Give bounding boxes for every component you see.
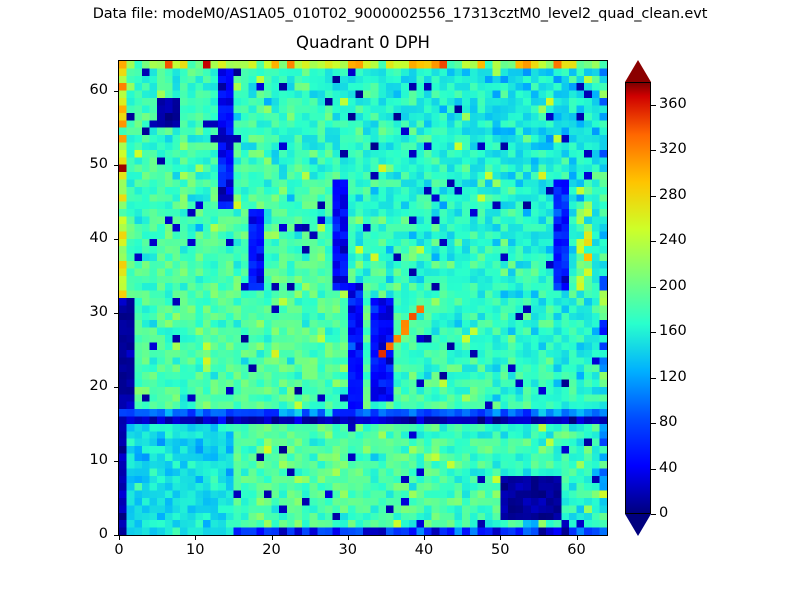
x-tick-mark: [195, 536, 196, 540]
colorbar-tick-mark: [651, 105, 656, 106]
x-tick-mark: [424, 536, 425, 540]
y-tick-label: 40: [72, 230, 108, 246]
figure-canvas: Data file: modeM0/AS1A05_010T02_90000025…: [0, 0, 800, 600]
colorbar-tick-label: 240: [659, 232, 687, 248]
y-tick-mark: [114, 91, 118, 92]
x-tick-mark: [272, 536, 273, 540]
heatmap-axes[interactable]: [118, 60, 608, 536]
colorbar-tick-mark: [651, 514, 656, 515]
x-tick-label: 40: [404, 542, 444, 558]
x-tick-label: 0: [99, 542, 139, 558]
x-tick-mark: [577, 536, 578, 540]
y-tick-mark: [114, 535, 118, 536]
colorbar-tick-label: 120: [659, 369, 687, 385]
colorbar-tick-label: 320: [659, 141, 687, 157]
colorbar-tick-mark: [651, 332, 656, 333]
y-tick-mark: [114, 461, 118, 462]
y-tick-label: 0: [72, 526, 108, 542]
y-tick-label: 60: [72, 82, 108, 98]
y-tick-label: 20: [72, 378, 108, 394]
x-tick-label: 50: [480, 542, 520, 558]
colorbar-tick-label: 280: [659, 187, 687, 203]
colorbar-tick-mark: [651, 287, 656, 288]
colorbar-extend-min-arrow-icon: [625, 514, 651, 536]
y-tick-mark: [114, 165, 118, 166]
colorbar-tick-label: 160: [659, 323, 687, 339]
colorbar-extend-max-arrow-icon: [625, 60, 651, 82]
colorbar-tick-mark: [651, 150, 656, 151]
x-tick-mark: [119, 536, 120, 540]
x-tick-mark: [500, 536, 501, 540]
colorbar-tick-mark: [651, 378, 656, 379]
plot-title: Quadrant 0 DPH: [118, 33, 608, 52]
x-tick-label: 20: [252, 542, 292, 558]
colorbar[interactable]: 04080120160200240280320360: [625, 60, 651, 536]
y-tick-mark: [114, 387, 118, 388]
colorbar-tick-mark: [651, 196, 656, 197]
colorbar-tick-label: 360: [659, 96, 687, 112]
y-tick-label: 10: [72, 452, 108, 468]
colorbar-tick-mark: [651, 469, 656, 470]
x-tick-label: 30: [328, 542, 368, 558]
heatmap-image[interactable]: [119, 61, 607, 535]
x-tick-label: 10: [175, 542, 215, 558]
colorbar-tick-label: 80: [659, 414, 677, 430]
colorbar-tick-label: 0: [659, 505, 668, 521]
colorbar-tick-label: 40: [659, 460, 677, 476]
x-tick-mark: [348, 536, 349, 540]
y-tick-label: 50: [72, 156, 108, 172]
y-tick-label: 30: [72, 304, 108, 320]
colorbar-gradient[interactable]: [625, 82, 651, 514]
colorbar-tick-mark: [651, 423, 656, 424]
colorbar-tick-mark: [651, 241, 656, 242]
x-tick-label: 60: [557, 542, 597, 558]
colorbar-tick-label: 200: [659, 278, 687, 294]
y-tick-mark: [114, 313, 118, 314]
y-tick-mark: [114, 239, 118, 240]
data-file-suptitle: Data file: modeM0/AS1A05_010T02_90000025…: [0, 6, 800, 22]
